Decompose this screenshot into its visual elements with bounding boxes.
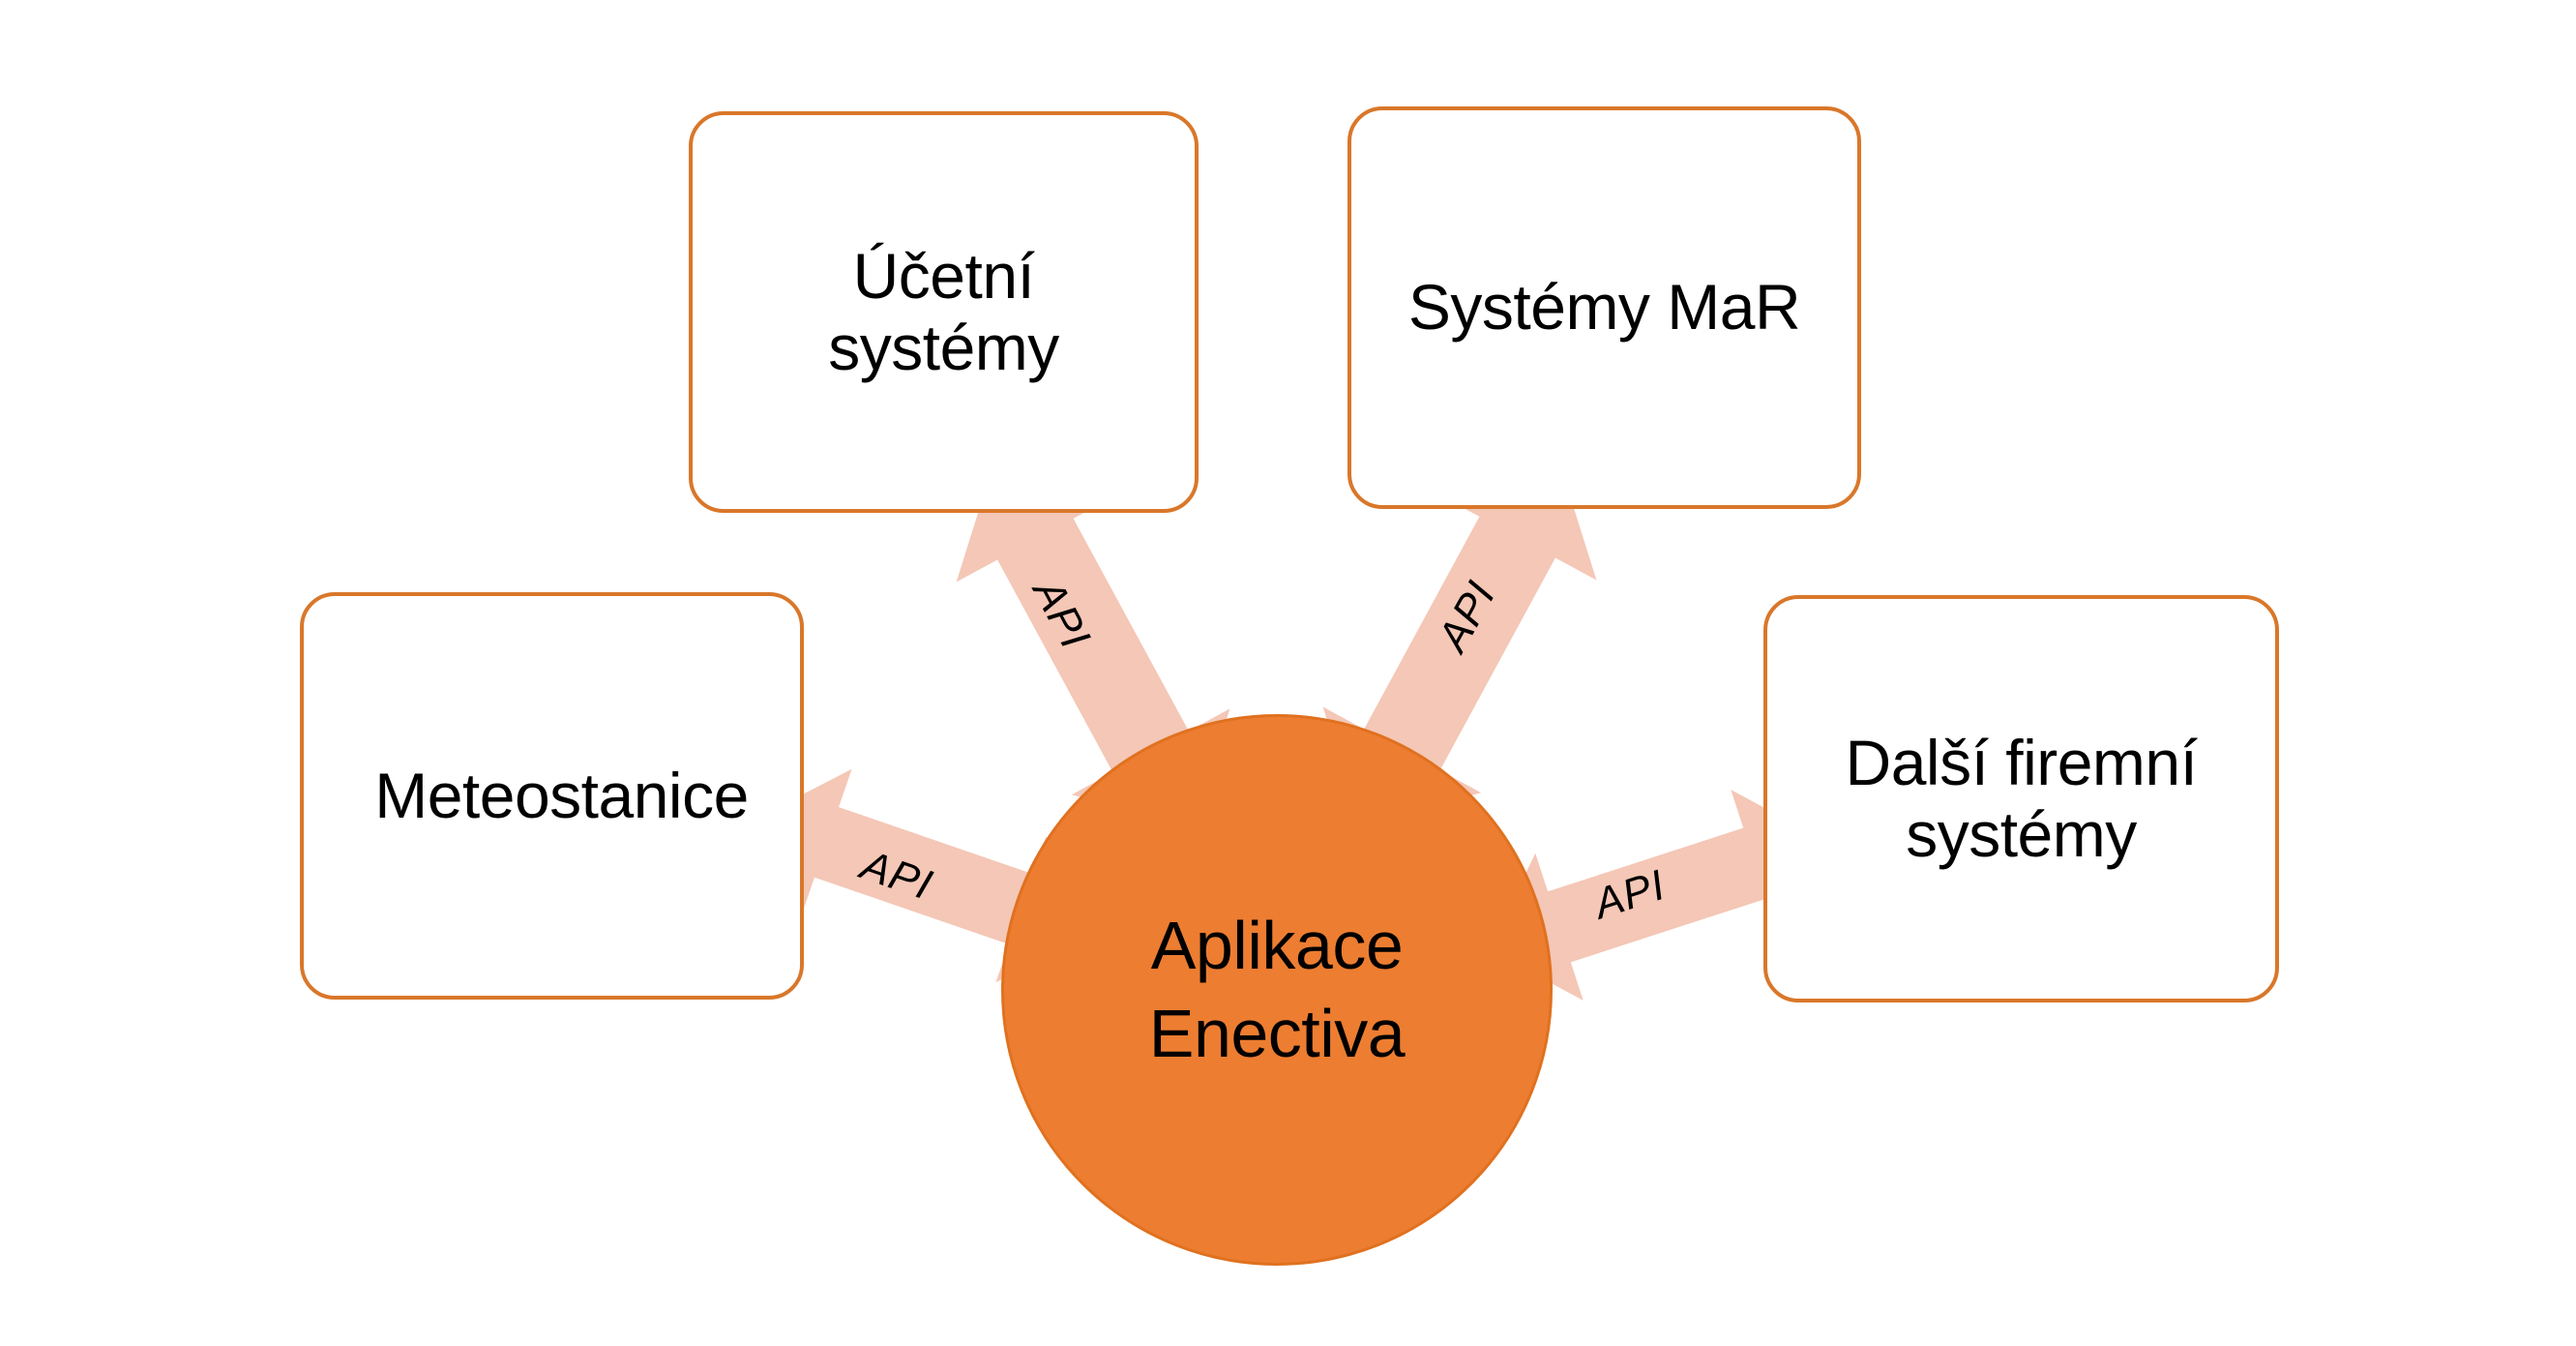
diagram-canvas: Aplikace Enectiva Účetní systémy Systémy… xyxy=(0,0,2576,1346)
node-meteostanice-label: Meteostanice xyxy=(313,761,810,832)
node-meteostanice[interactable]: Meteostanice xyxy=(300,592,804,1000)
node-dalsi-firemni-systemy[interactable]: Další firemní systémy xyxy=(1763,595,2279,1002)
node-ucetni-systemy[interactable]: Účetní systémy xyxy=(689,111,1199,513)
node-ucetni-systemy-label: Účetní systémy xyxy=(828,241,1059,384)
node-systemy-mar[interactable]: Systémy MaR xyxy=(1347,106,1861,509)
central-node-aplikace-enectiva[interactable]: Aplikace Enectiva xyxy=(1001,714,1553,1266)
central-node-label: Aplikace Enectiva xyxy=(1149,902,1405,1078)
node-systemy-mar-label: Systémy MaR xyxy=(1408,272,1800,344)
node-dalsi-firemni-systemy-label: Další firemní systémy xyxy=(1846,728,2198,871)
